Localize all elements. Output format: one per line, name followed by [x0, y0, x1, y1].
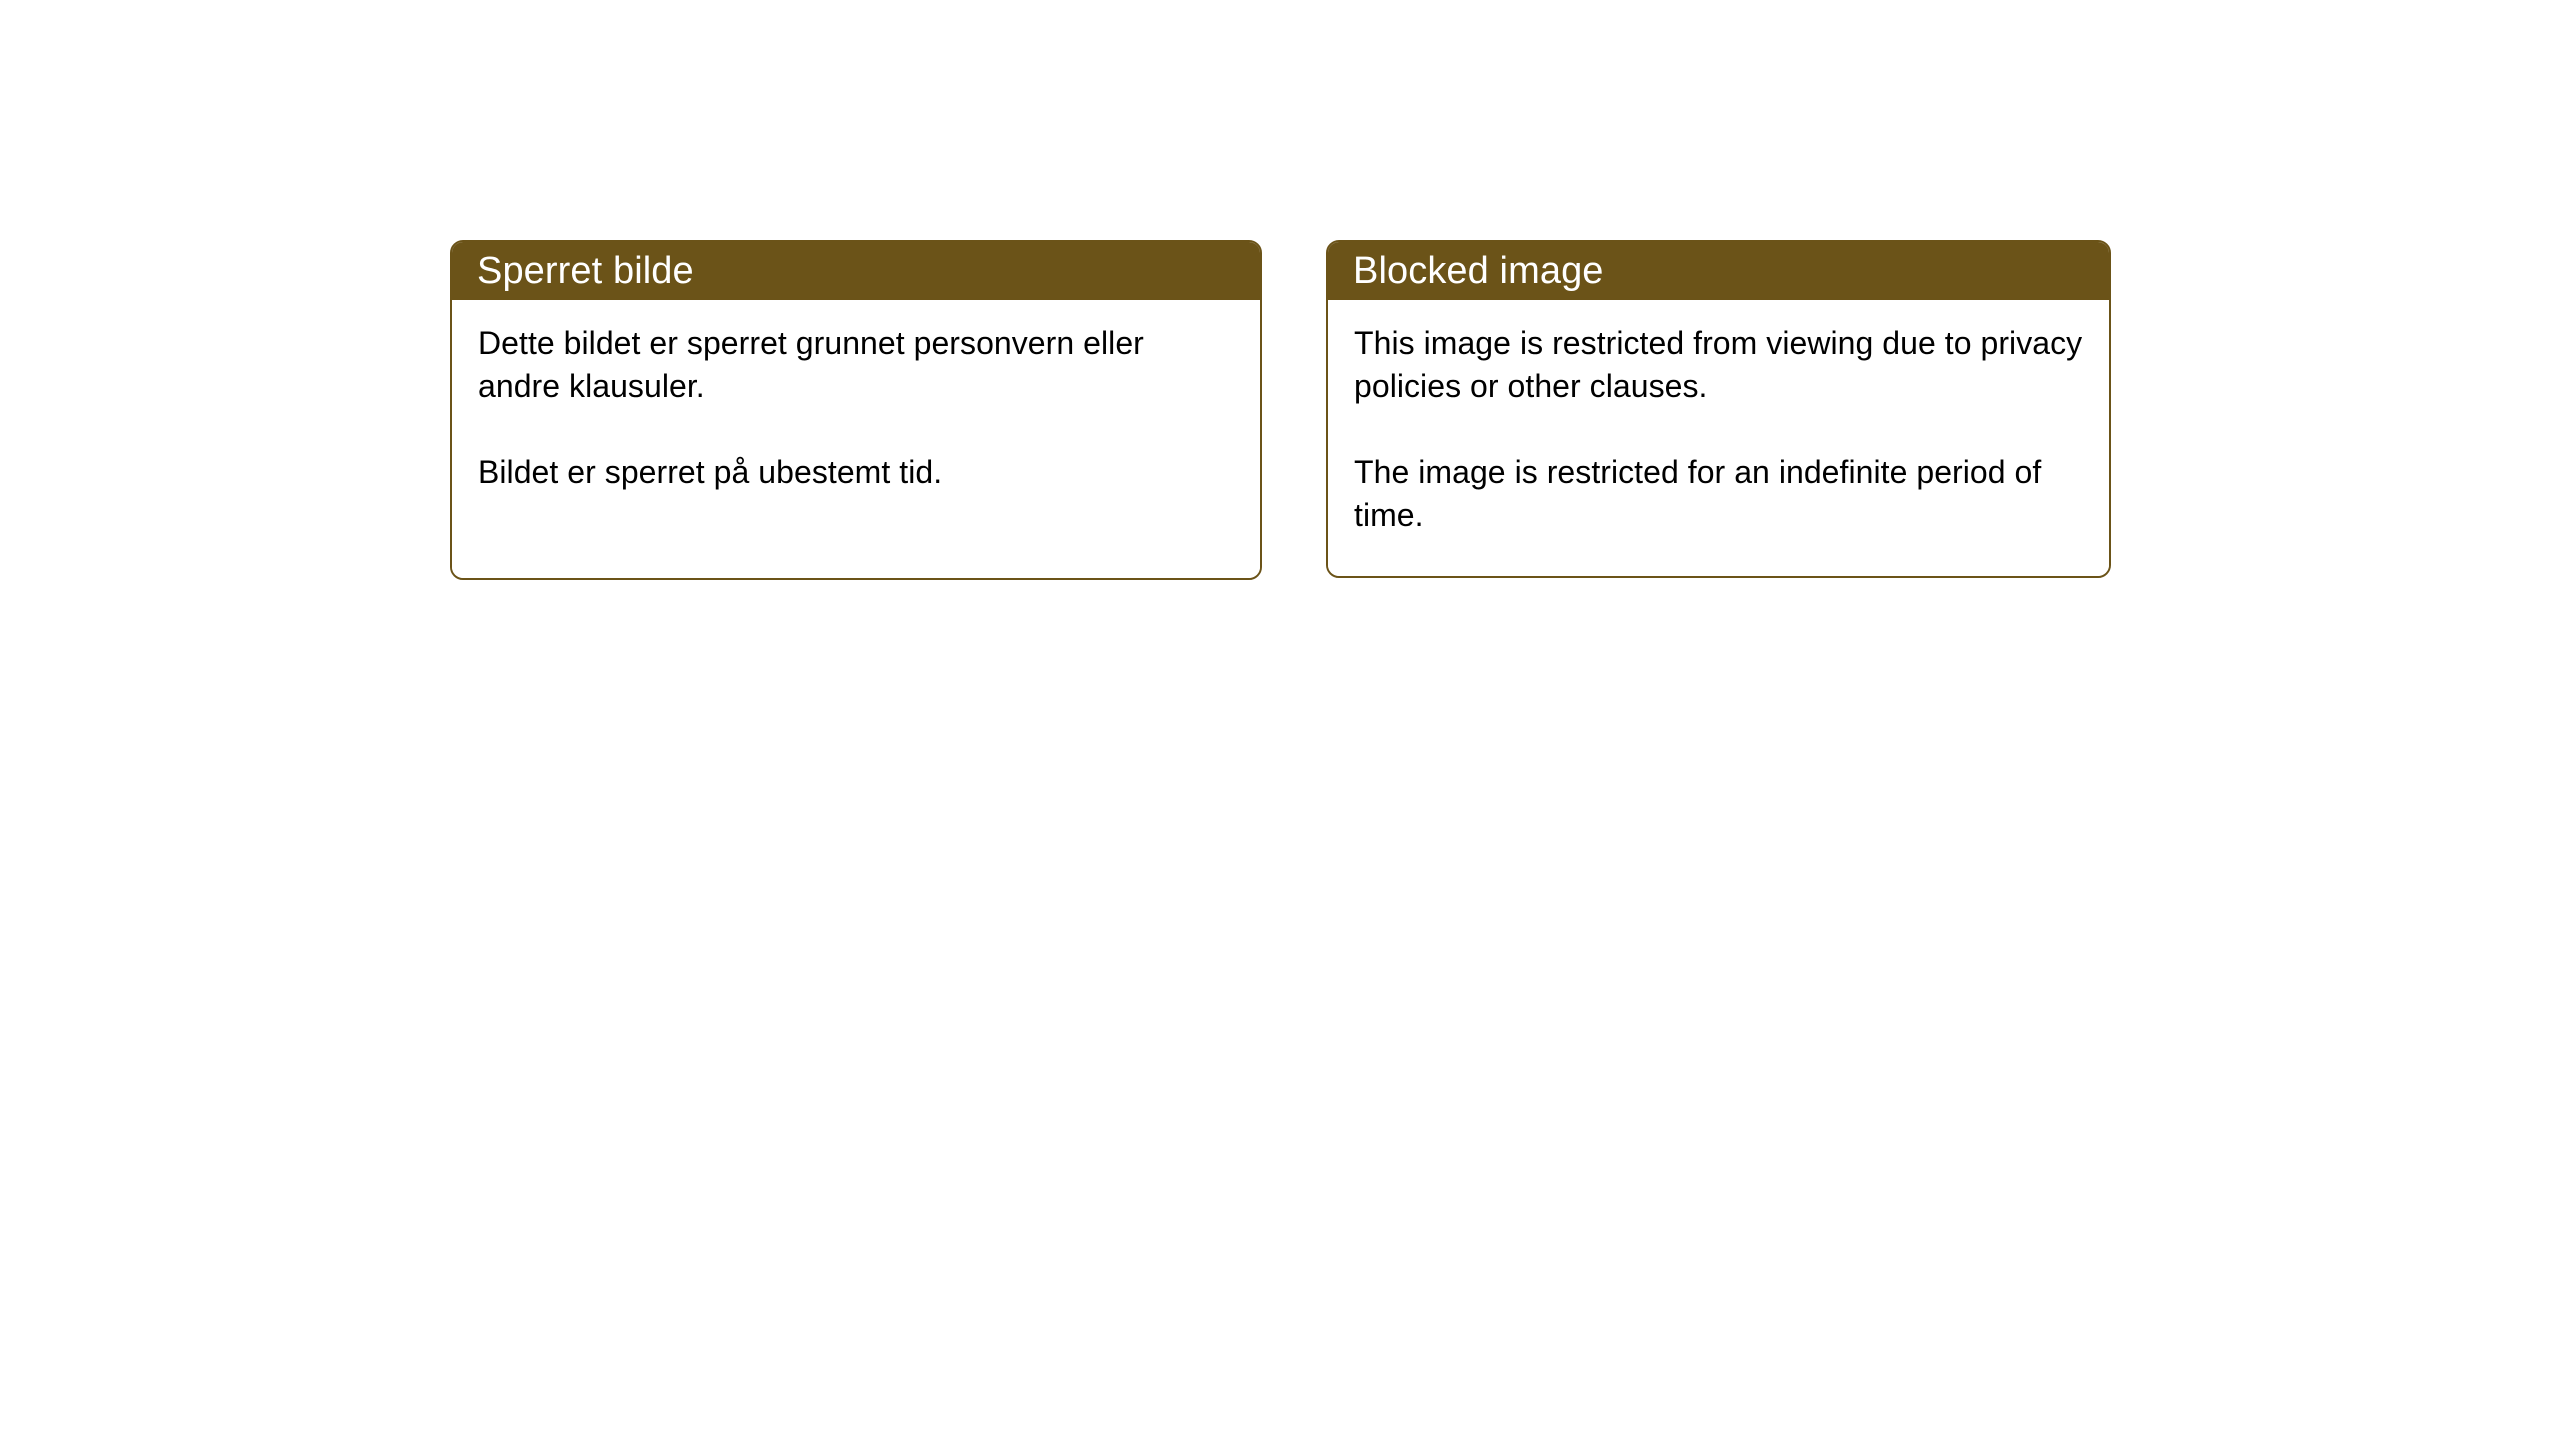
- card-body-en: This image is restricted from viewing du…: [1328, 300, 2109, 576]
- card-header-en: Blocked image: [1328, 242, 2109, 300]
- notice-card-row: Sperret bilde Dette bildet er sperret gr…: [450, 240, 2111, 580]
- card-paragraph-en-1: This image is restricted from viewing du…: [1354, 322, 2083, 408]
- page-canvas: Sperret bilde Dette bildet er sperret gr…: [0, 0, 2560, 1440]
- blocked-image-notice-card-en: Blocked image This image is restricted f…: [1326, 240, 2111, 578]
- card-title-no: Sperret bilde: [477, 251, 694, 291]
- card-body-no: Dette bildet er sperret grunnet personve…: [452, 300, 1260, 578]
- card-paragraph-no-2: Bildet er sperret på ubestemt tid.: [478, 451, 1234, 494]
- blocked-image-notice-card-no: Sperret bilde Dette bildet er sperret gr…: [450, 240, 1262, 580]
- card-paragraph-no-1: Dette bildet er sperret grunnet personve…: [478, 322, 1234, 408]
- card-paragraph-en-2: The image is restricted for an indefinit…: [1354, 451, 2083, 537]
- card-header-no: Sperret bilde: [452, 242, 1260, 300]
- card-title-en: Blocked image: [1353, 251, 1604, 291]
